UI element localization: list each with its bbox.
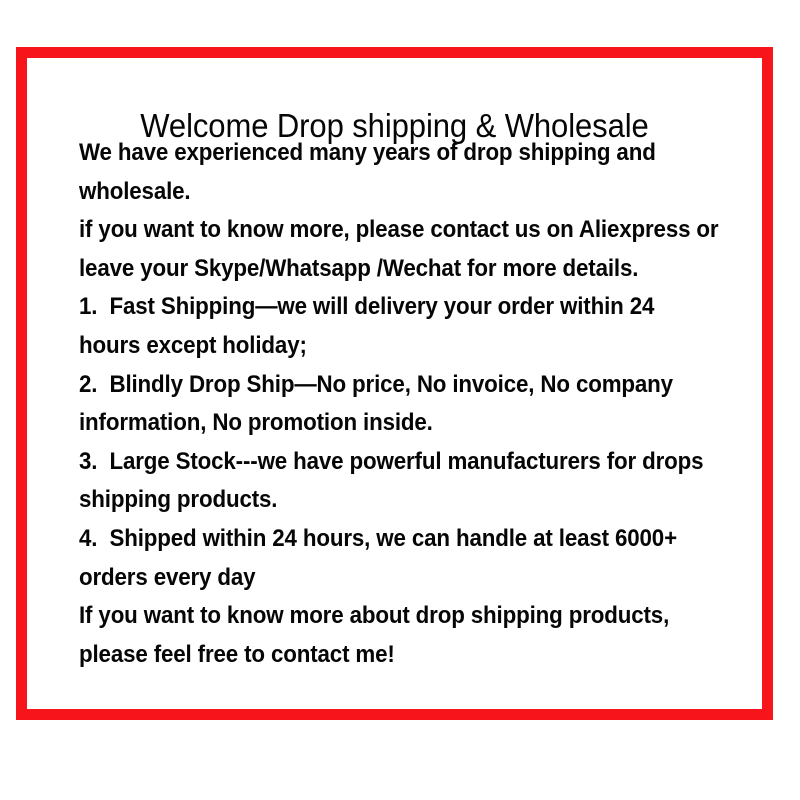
body-line: leave your Skype/Whatsapp /Wechat for mo… <box>79 250 701 289</box>
body-line: please feel free to contact me! <box>79 636 701 675</box>
body-line-item-2: 2. Blindly Drop Ship—No price, No invoic… <box>79 366 701 405</box>
body-line: We have experienced many years of drop s… <box>79 134 701 173</box>
red-bordered-info-frame: Welcome Drop shipping & Wholesale We hav… <box>16 47 773 720</box>
banner-canvas: Welcome Drop shipping & Wholesale We hav… <box>0 0 800 800</box>
body-line: hours except holiday; <box>79 327 701 366</box>
body-line: If you want to know more about drop ship… <box>79 597 701 636</box>
body-line-item-3: 3. Large Stock---we have powerful manufa… <box>79 443 701 482</box>
body-line: information, No promotion inside. <box>79 404 701 443</box>
body-line: orders every day <box>79 559 701 598</box>
banner-body-text: We have experienced many years of drop s… <box>79 134 748 674</box>
body-line: wholesale. <box>79 173 701 212</box>
body-line-item-4: 4. Shipped within 24 hours, we can handl… <box>79 520 701 559</box>
body-line-item-1: 1. Fast Shipping—we will delivery your o… <box>79 288 701 327</box>
body-line: if you want to know more, please contact… <box>79 211 701 250</box>
body-line: shipping products. <box>79 481 701 520</box>
